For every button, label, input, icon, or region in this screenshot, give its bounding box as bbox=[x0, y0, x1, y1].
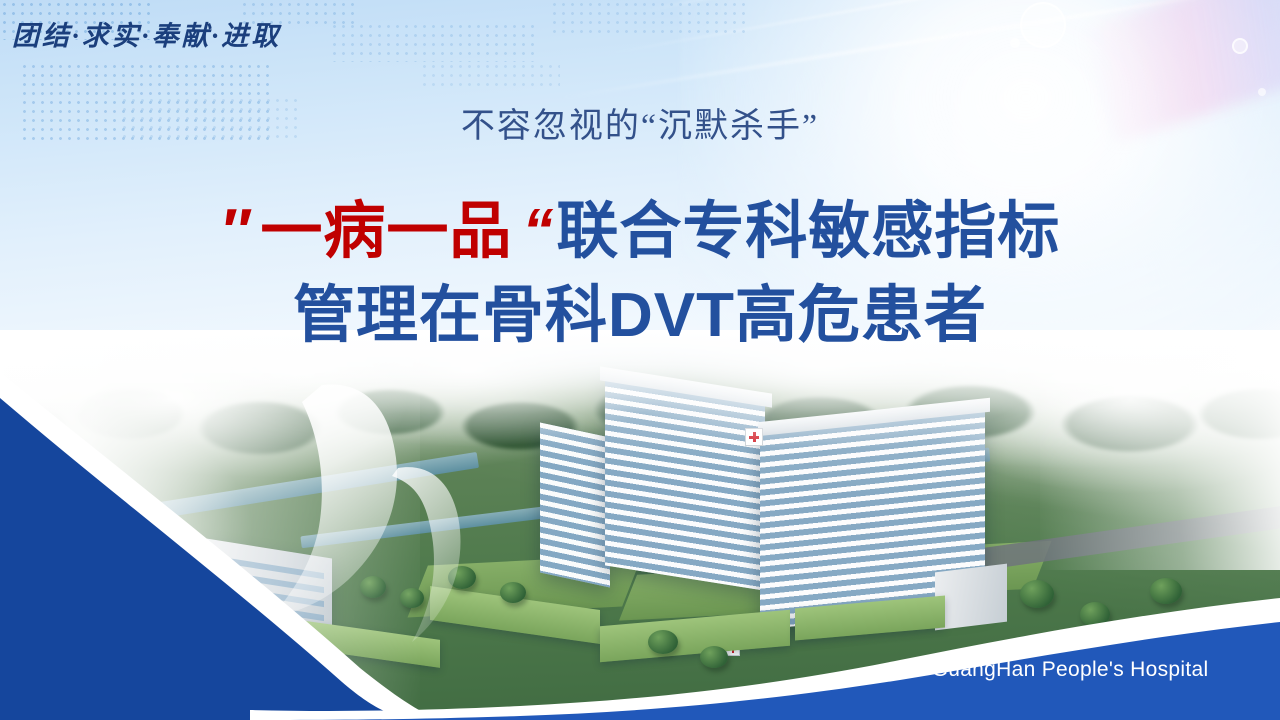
quote-mark-close: “ bbox=[512, 197, 556, 266]
bokeh-circle-icon bbox=[1232, 38, 1248, 54]
slide-title: ″一病一品“联合专科敏感指标 管理在骨科DVT高危患者 bbox=[0, 190, 1280, 358]
tree bbox=[1080, 602, 1110, 627]
hospital-tower-main bbox=[605, 375, 765, 590]
title-accent-text: 一病一品 bbox=[260, 197, 512, 266]
halftone-dot-pattern bbox=[420, 62, 560, 92]
presentation-slide: 团结·求实·奉献·进取 不容忽视的“沉默杀手” ″一病一品“联合专科敏感指标 管… bbox=[0, 0, 1280, 720]
tree bbox=[1150, 578, 1182, 604]
tree bbox=[360, 576, 386, 598]
tree bbox=[700, 646, 728, 668]
red-cross-icon bbox=[745, 428, 763, 446]
hospital-name-footer: GuangHan People's Hospital bbox=[900, 658, 1240, 682]
tree bbox=[160, 566, 186, 588]
bokeh-circle-icon bbox=[1020, 2, 1066, 48]
halftone-dot-pattern bbox=[550, 0, 750, 34]
tree bbox=[648, 630, 678, 654]
secondary-building-right bbox=[935, 564, 1007, 631]
hospital-motto: 团结·求实·奉献·进取 bbox=[12, 14, 281, 53]
title-line-1-rest: 联合专科敏感指标 bbox=[556, 197, 1060, 266]
bokeh-circle-icon bbox=[1258, 88, 1266, 96]
halftone-dot-pattern bbox=[330, 22, 540, 62]
hospital-tower-wing-left bbox=[540, 423, 610, 588]
tree bbox=[448, 566, 476, 589]
tree bbox=[400, 588, 424, 608]
tree bbox=[500, 582, 526, 603]
quote-mark-open: ″ bbox=[220, 197, 261, 266]
bokeh-circle-icon bbox=[1010, 38, 1020, 48]
tree bbox=[1020, 580, 1054, 608]
title-line-2: 管理在骨科DVT高危患者 bbox=[0, 274, 1280, 358]
tree bbox=[1210, 610, 1240, 634]
title-line-1: ″一病一品“联合专科敏感指标 bbox=[0, 190, 1280, 274]
tree bbox=[120, 592, 144, 612]
slide-subtitle: 不容忽视的“沉默杀手” bbox=[0, 98, 1280, 147]
